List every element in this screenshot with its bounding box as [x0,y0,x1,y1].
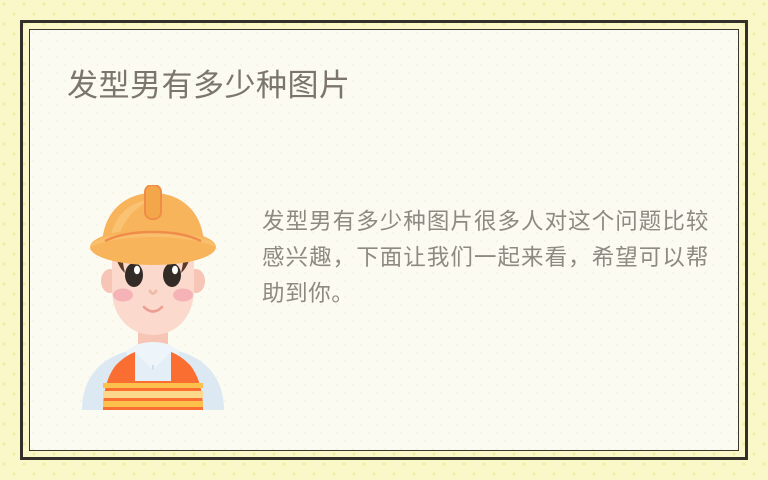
content-row: 发型男有多少种图片很多人对这个问题比较感兴趣，下面让我们一起来看，希望可以帮助到… [67,180,714,410]
vest-stripe-1 [103,383,203,388]
vest-stripe-3 [103,401,203,407]
worker-illustration-svg [72,185,234,410]
left-eye [125,263,143,287]
body-paragraph: 发型男有多少种图片很多人对这个问题比较感兴趣，下面让我们一起来看，希望可以帮助到… [262,204,709,312]
right-eye [163,263,181,287]
right-eye-highlight [172,266,178,274]
construction-worker-avatar [72,185,234,410]
vest-stripe-2 [103,391,203,398]
helmet-crest [145,185,161,219]
content-card: 发型男有多少种图片 [29,29,739,451]
page-title: 发型男有多少种图片 [67,66,351,106]
left-cheek-blush [113,289,133,302]
left-eye-highlight [134,266,140,274]
right-cheek-blush [173,289,193,302]
decorative-page-background: 发型男有多少种图片 [0,0,768,480]
